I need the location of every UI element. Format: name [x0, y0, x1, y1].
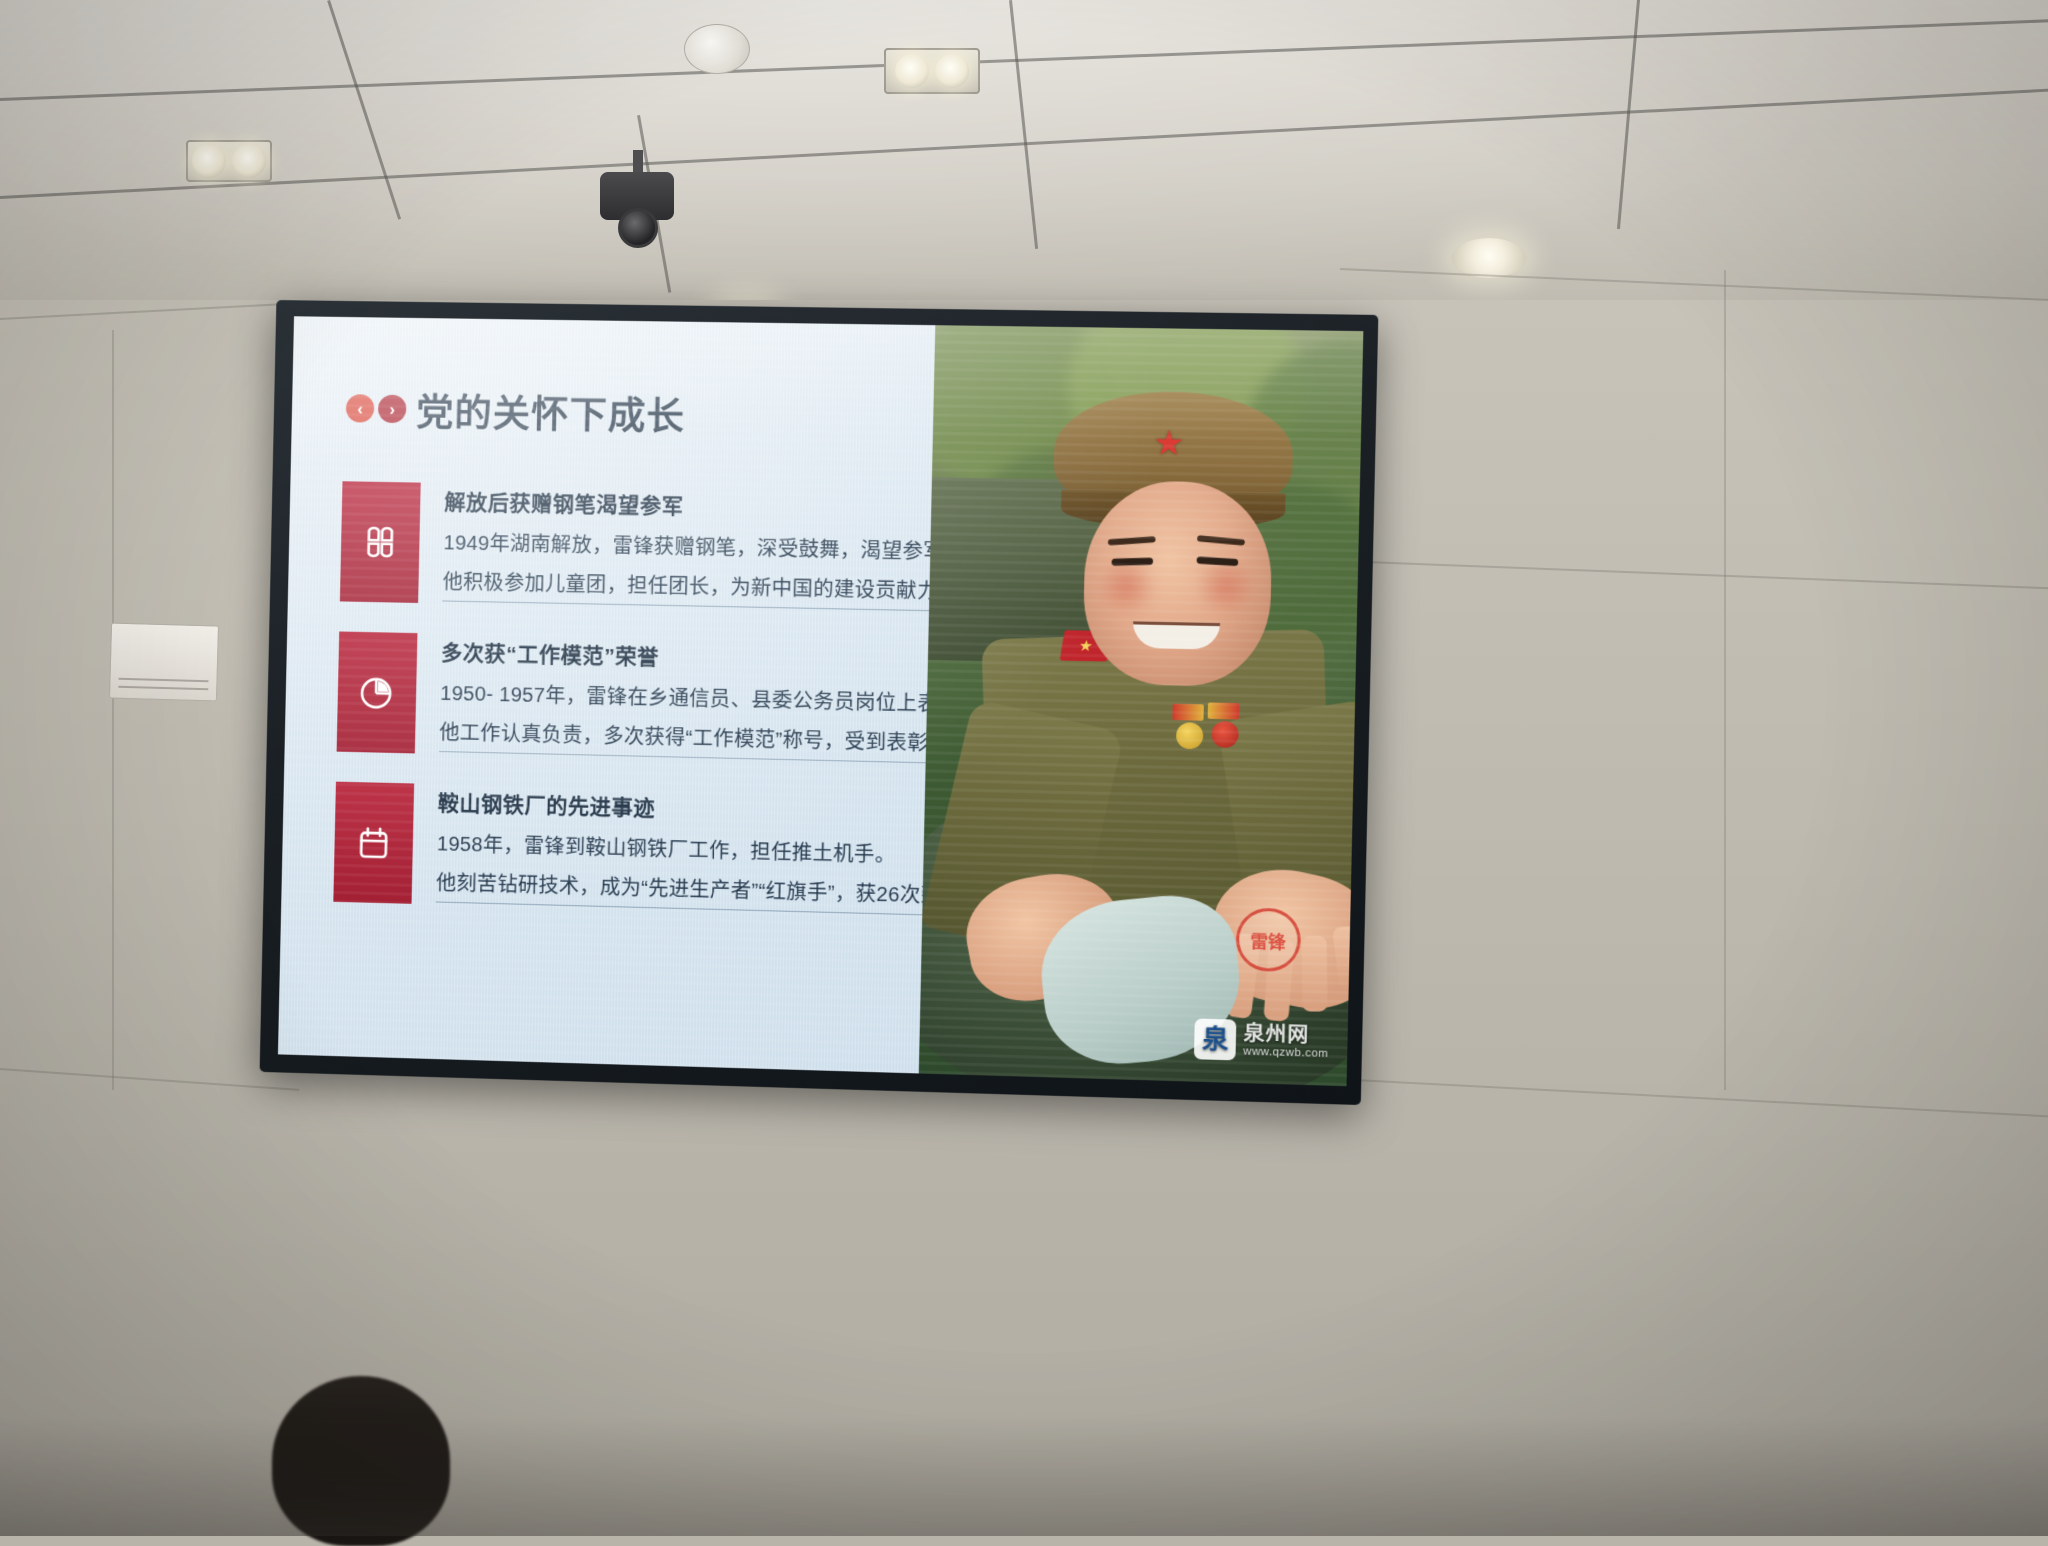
calendar-icon	[352, 821, 395, 864]
block-body: 鞍山钢铁厂的先进事迹 1958年，雷锋到鞍山钢铁厂工作，担任推土机手。 他刻苦钻…	[412, 784, 986, 919]
chevron-right-icon[interactable]: ›	[378, 395, 407, 424]
tv-screen: ‹ › 党的关怀下成长	[278, 316, 1363, 1086]
smoke-detector-icon	[684, 24, 750, 74]
slide-photo-column: ★ ★	[919, 325, 1364, 1086]
ceiling-light-wash	[0, 0, 2048, 340]
finger	[1301, 936, 1327, 1012]
foreground-shadow	[0, 1416, 2048, 1536]
block-icon-badge	[340, 481, 421, 603]
block-heading: 鞍山钢铁厂的先进事迹	[438, 787, 986, 831]
watermark-text: 泉州网 www.qzwb.com	[1243, 1023, 1329, 1060]
block-icon-badge	[337, 631, 418, 753]
tv-bezel: ‹ › 党的关怀下成长	[260, 300, 1379, 1105]
wall-panel-edge	[112, 330, 114, 1090]
clover-four-petal-icon	[359, 521, 402, 564]
block-line: 1949年湖南解放，雷锋获赠钢笔，深受鼓舞，渴望参军报国。	[443, 526, 1007, 572]
medal-ribbon	[1208, 702, 1240, 719]
medal-ribbon	[1172, 704, 1204, 721]
spotlight-lamp-icon	[895, 54, 929, 88]
watermark-site-name: 泉州网	[1243, 1023, 1329, 1048]
ceiling-spotlight-right	[884, 48, 980, 94]
stamp-text: 雷锋	[1250, 927, 1286, 953]
display-screen[interactable]: ‹ › 党的关怀下成长	[260, 300, 1379, 1105]
block-icon-badge	[333, 782, 414, 904]
camera-lens-icon	[618, 208, 658, 248]
slide-title-row: ‹ › 党的关怀下成长	[345, 381, 933, 445]
vent-line	[119, 686, 208, 690]
content-block: 解放后获赠钢笔渴望参军 1949年湖南解放，雷锋获赠钢笔，深受鼓舞，渴望参军报国…	[340, 481, 932, 613]
wall-mounted-control-box	[109, 623, 219, 702]
slide-text-column: ‹ › 党的关怀下成长	[278, 316, 935, 1073]
spotlight-lamp-icon	[935, 54, 969, 88]
lei-feng-photograph: ★ ★	[919, 325, 1364, 1086]
medal-badge	[1176, 722, 1204, 749]
block-line: 他积极参加儿童团，担任团长，为新中国的建设贡献力量。	[442, 565, 1006, 612]
slide-nav-controls[interactable]: ‹ ›	[346, 394, 407, 423]
photo-watermark: 泉 泉州网 www.qzwb.com	[1194, 1018, 1329, 1063]
chevron-left-icon[interactable]: ‹	[346, 394, 375, 422]
room-scene: ‹ › 党的关怀下成长	[0, 0, 2048, 1536]
slide-title: 党的关怀下成长	[416, 382, 686, 441]
vent-line	[119, 678, 208, 682]
ceiling-camera	[600, 150, 676, 250]
content-block: 多次获“工作模范”荣誉 1950- 1957年，雷锋在乡通信员、县委公务员岗位上…	[337, 631, 929, 765]
spotlight-lamp-icon	[192, 144, 226, 178]
slide-content-blocks: 解放后获赠钢笔渴望参军 1949年湖南解放，雷锋获赠钢笔，深受鼓舞，渴望参军报国…	[333, 481, 931, 917]
quanzhou-logo-icon: 泉	[1194, 1018, 1236, 1060]
medal-badge	[1211, 721, 1239, 748]
downlight	[1452, 238, 1526, 278]
presentation-slide: ‹ › 党的关怀下成长	[278, 316, 1363, 1086]
wall-panel-edge	[1724, 270, 1726, 1090]
block-body: 解放后获赠钢笔渴望参军 1949年湖南解放，雷锋获赠钢笔，深受鼓舞，渴望参军报国…	[418, 483, 1008, 615]
eye	[1111, 557, 1153, 565]
pie-chart-icon	[355, 671, 398, 714]
watermark-site-url: www.qzwb.com	[1243, 1045, 1329, 1060]
ceiling-spotlight-left	[186, 140, 272, 182]
spotlight-lamp-icon	[232, 144, 266, 178]
cap-red-star-icon: ★	[1151, 426, 1187, 461]
collar-star-icon: ★	[1078, 638, 1094, 654]
block-heading: 解放后获赠钢笔渴望参军	[444, 486, 1008, 526]
content-block: 鞍山钢铁厂的先进事迹 1958年，雷锋到鞍山钢铁厂工作，担任推土机手。 他刻苦钻…	[333, 782, 924, 918]
